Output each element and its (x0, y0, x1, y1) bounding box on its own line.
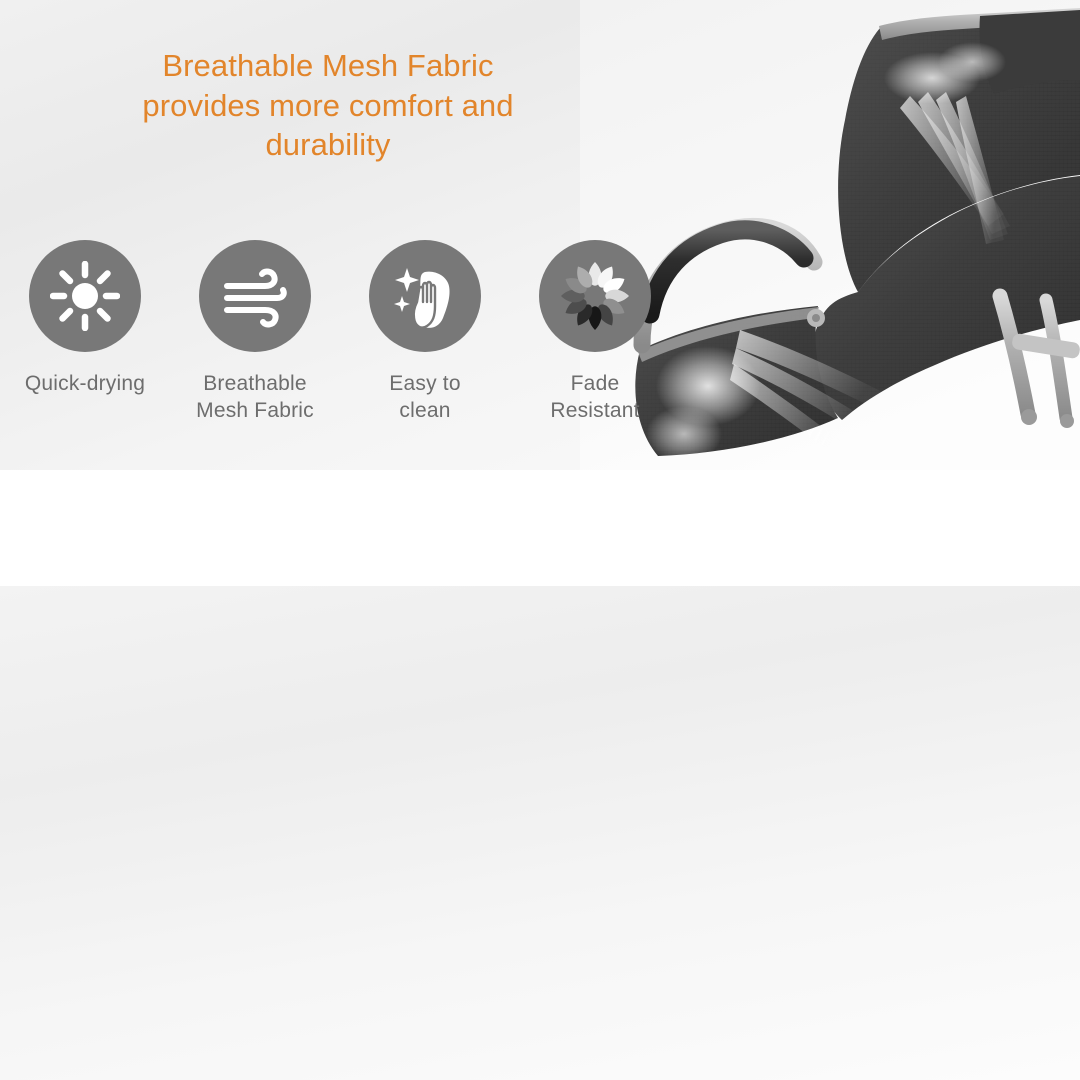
feature-quick-drying: Quick-drying (0, 240, 170, 397)
feature-breathable-mesh: Breathable Mesh Fabric (170, 240, 340, 425)
breathable-headline: Breathable Mesh Fabric provides more com… (28, 46, 628, 165)
premium-material-banner (0, 470, 1080, 586)
product-infographic: Breathable Mesh Fabric provides more com… (0, 0, 1080, 1080)
breathable-fabric-section: Breathable Mesh Fabric provides more com… (0, 0, 1080, 470)
wind-icon (199, 240, 311, 352)
feature-label: Quick-drying (25, 370, 145, 397)
feature-label: Easy to clean (389, 370, 460, 425)
feature-fade-resistant: Fade Resistant (510, 240, 680, 425)
fabric-feature-row: Quick-drying Breathable Mesh Fabric (0, 240, 680, 425)
feature-label: Breathable Mesh Fabric (196, 370, 314, 425)
sun-icon (29, 240, 141, 352)
feature-easy-to-clean: Easy to clean (340, 240, 510, 425)
hand-cloth-icon (369, 240, 481, 352)
feature-label: Fade Resistant (550, 370, 639, 425)
color-wheel-icon (539, 240, 651, 352)
aluminum-frame-section: Durable Aluminum frame for easy carry an… (0, 586, 1080, 1080)
